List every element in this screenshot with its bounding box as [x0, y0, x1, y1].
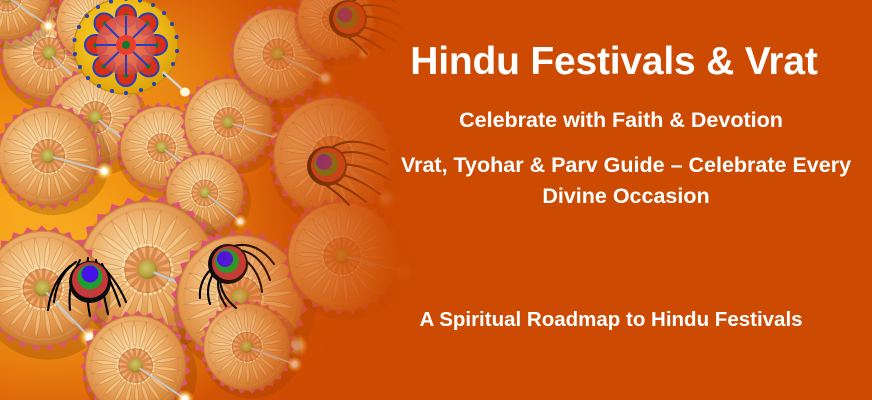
banner-title: Hindu Festivals & Vrat — [378, 40, 850, 84]
text-content-layer: Hindu Festivals & Vrat Celebrate with Fa… — [0, 0, 872, 400]
hindu-festivals-banner: Hindu Festivals & Vrat Celebrate with Fa… — [0, 0, 872, 400]
banner-subtitle: Celebrate with Faith & Devotion — [390, 108, 852, 134]
banner-tagline: A Spiritual Roadmap to Hindu Festivals — [370, 308, 852, 333]
banner-description: Vrat, Tyohar & Parv Guide – Celebrate Ev… — [400, 150, 852, 211]
